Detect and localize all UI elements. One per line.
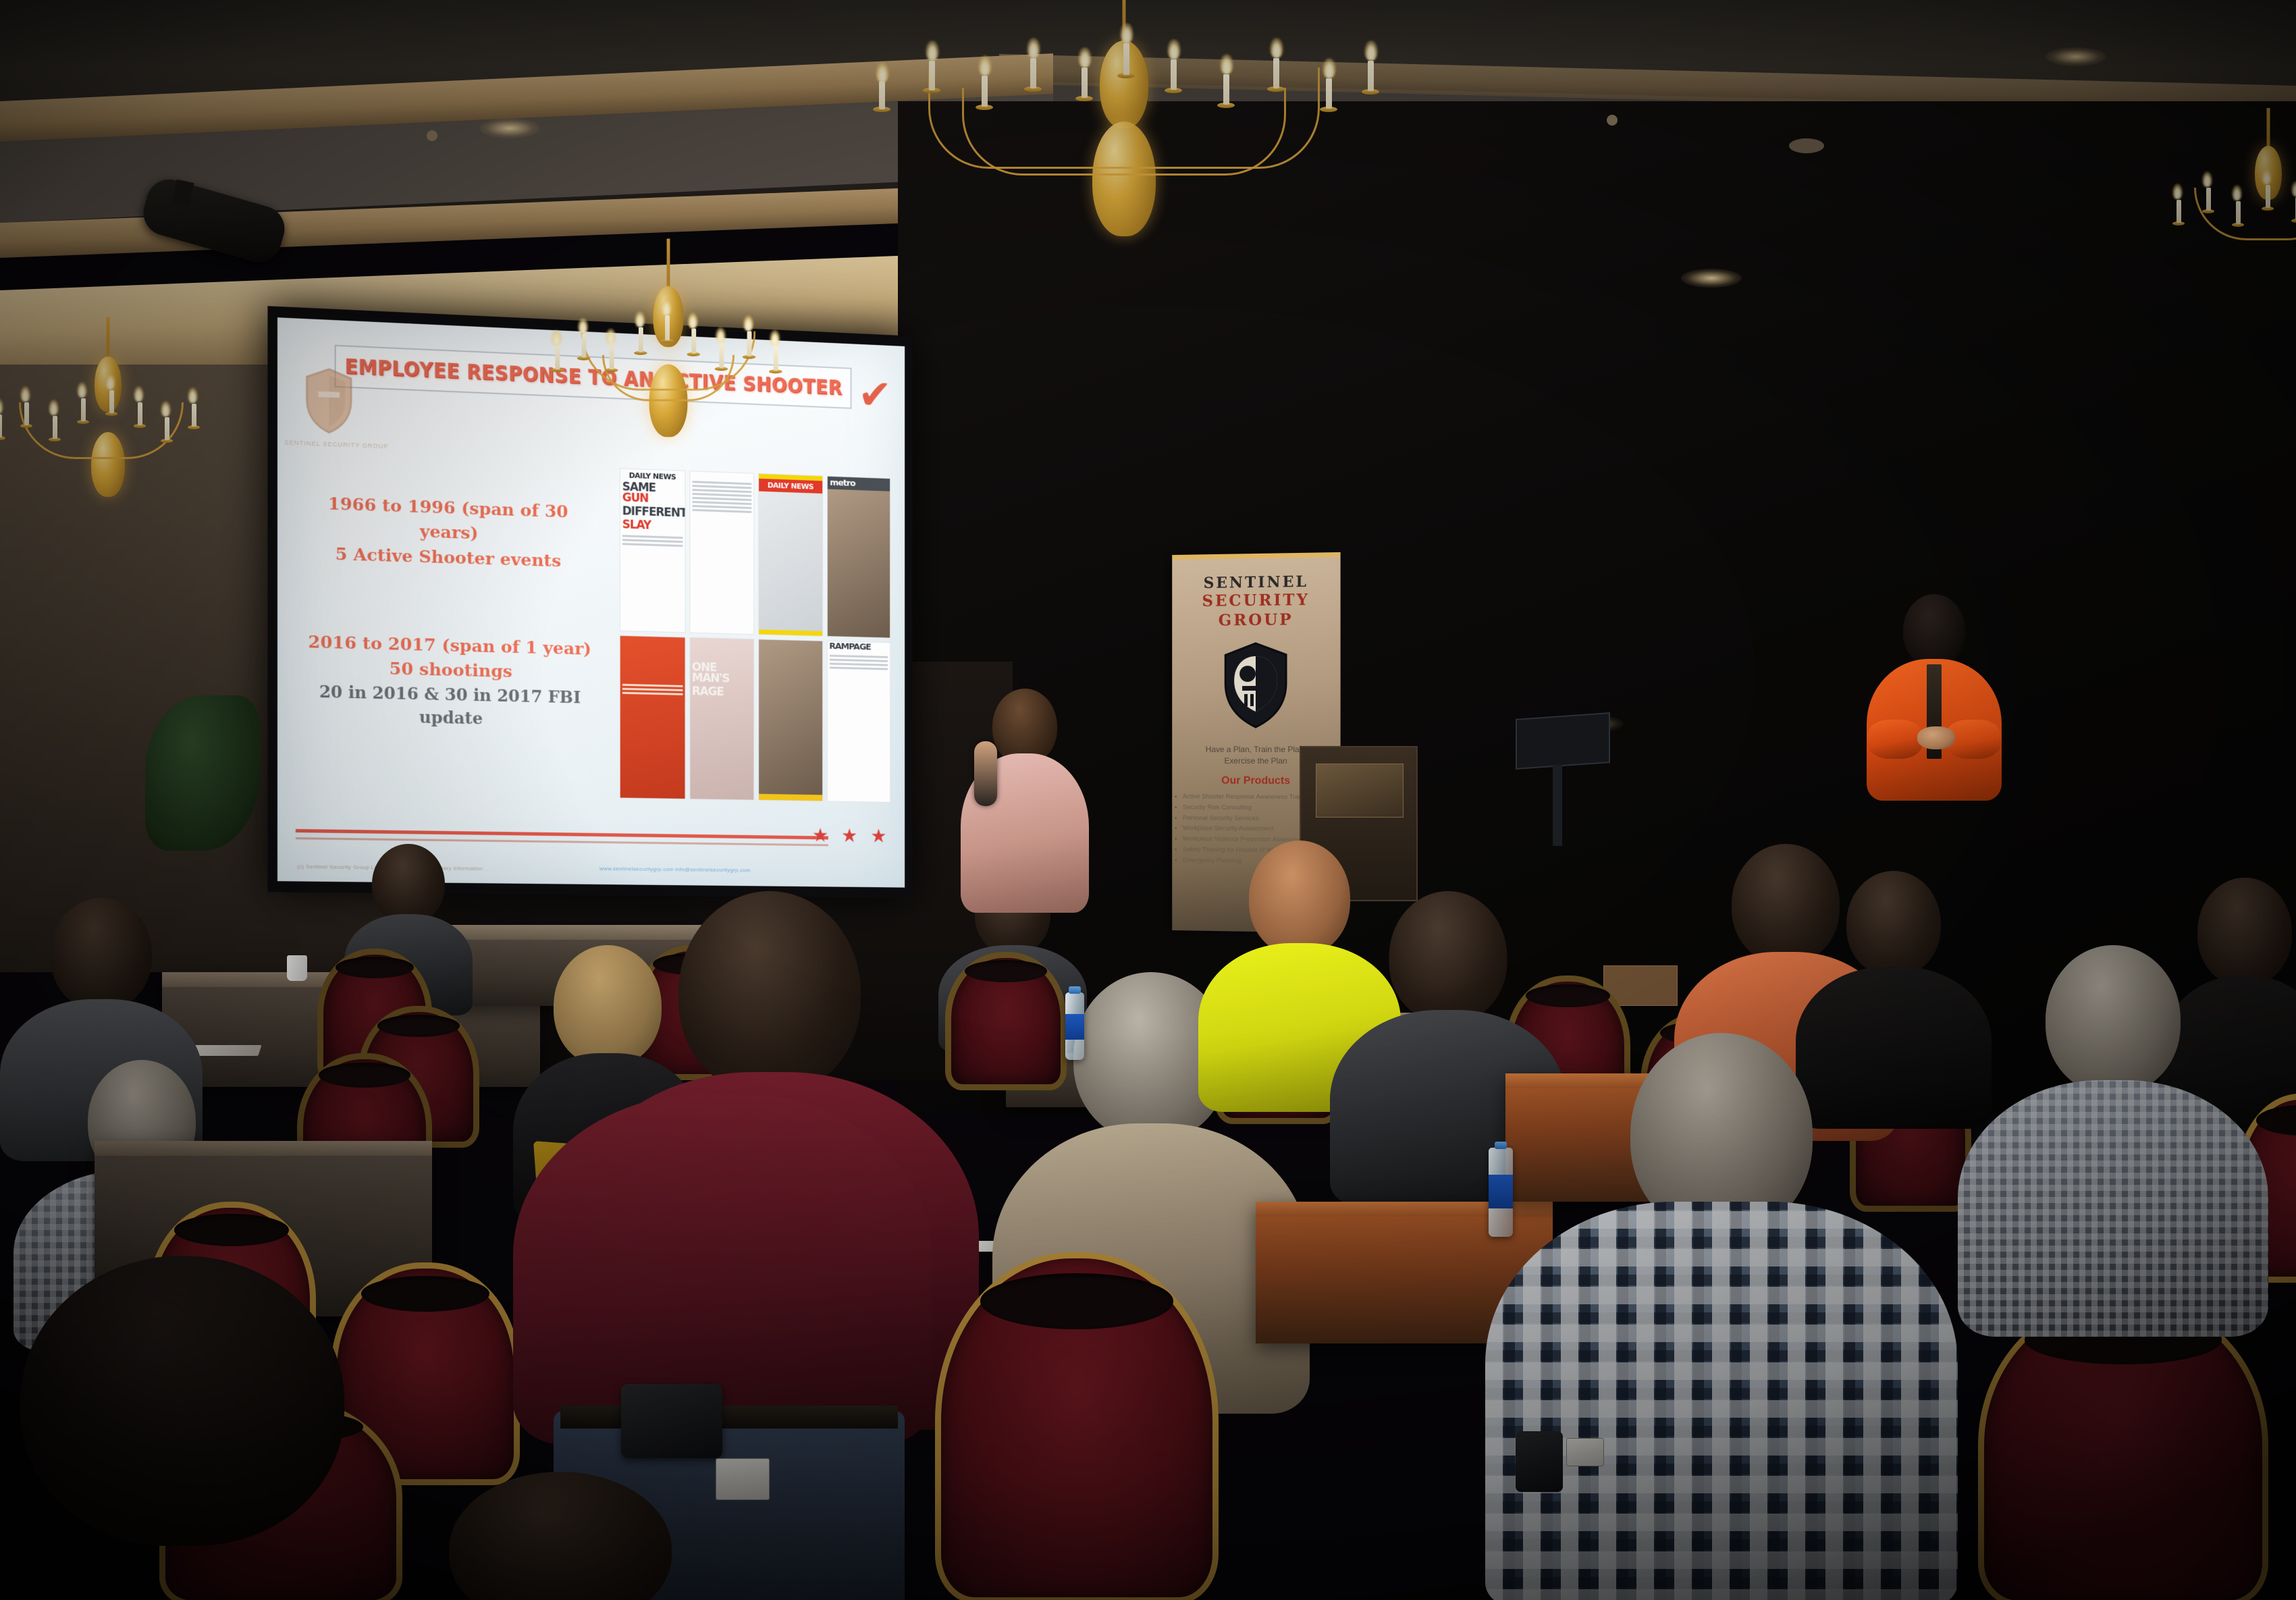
name-badge — [1566, 1438, 1604, 1466]
potted-plant — [145, 695, 260, 851]
banner-line-2: SECURITY — [1172, 590, 1340, 612]
newspaper-body-lines — [620, 532, 685, 552]
chandelier-left — [0, 317, 230, 520]
banner-line-3: GROUP — [1172, 610, 1340, 631]
recessed-downlight — [479, 118, 540, 138]
conference-room-photo: EMPLOYEE RESPONSE TO AN ACTIVE SHOOTER ✔… — [0, 0, 2296, 1600]
newspaper-clipping — [620, 635, 685, 799]
recessed-downlight — [2046, 47, 2106, 66]
newspaper-headline: SLAY — [620, 518, 685, 534]
newspaper-headline: ONE MAN'S — [690, 660, 753, 686]
newspaper-headline — [620, 668, 685, 683]
sprinkler-head — [427, 130, 437, 141]
banquet-chair-front — [935, 1252, 1219, 1600]
newspaper-photo — [827, 489, 890, 637]
slide-stars: ★ ★ ★ — [812, 824, 890, 847]
stat-1-line-1: 1966 to 1996 (span of 30 years) — [297, 490, 598, 550]
checkmark-icon: ✔ — [858, 373, 892, 416]
newspaper-body-lines — [827, 652, 890, 675]
standing-host — [1863, 594, 2005, 797]
slide-footer-links: www.sentinelsecuritygrp.com info@sentine… — [599, 865, 751, 873]
recessed-downlight — [1681, 269, 1742, 288]
stat-2-line-3: 20 in 2016 & 30 in 2017 FBI update — [289, 679, 610, 734]
coffee-cup — [287, 955, 307, 981]
newspaper-body-lines — [620, 681, 685, 700]
clasped-hands — [1917, 726, 1955, 749]
belt — [560, 1406, 898, 1429]
table-top — [95, 1141, 432, 1156]
newspaper-clipping: metro — [826, 476, 890, 639]
chandelier-over-screen — [536, 238, 801, 456]
phone-holster — [1516, 1431, 1563, 1492]
newspaper-clipping: DAILY NEWS — [758, 473, 823, 637]
sentinel-shield-icon — [304, 367, 354, 435]
bottle-cap — [1069, 986, 1081, 994]
chandelier-center-large — [847, 0, 1401, 250]
attendee-plaid-flannel — [1485, 1033, 1958, 1600]
banquet-chair-front — [1978, 1296, 2268, 1600]
podium-plaque — [1316, 764, 1404, 818]
newspaper-headline: RAGE — [690, 685, 753, 699]
newspaper-clipping: ONE MAN'S RAGE — [689, 637, 754, 801]
knight-helmet-shield-icon — [1222, 641, 1289, 728]
stat-block-1: 1966 to 1996 (span of 30 years) 5 Active… — [297, 490, 598, 574]
chandelier-right — [2167, 108, 2296, 311]
newspaper-clipping: RAMPAGE — [826, 641, 890, 803]
newspaper-photo — [759, 639, 822, 795]
water-bottle — [1065, 992, 1084, 1060]
monitor-stand — [1553, 765, 1562, 846]
name-badge — [716, 1458, 770, 1500]
newspaper-accent-bar — [759, 629, 822, 635]
microphone-icon — [974, 741, 997, 806]
slide-logo-caption: SENTINEL SECURITY GROUP — [284, 439, 395, 450]
attendee-checked-shirt-right — [1958, 945, 2268, 1323]
sprinkler-head — [1607, 115, 1618, 126]
smoke-detector — [1789, 138, 1824, 153]
stat-block-2: 2016 to 2017 (span of 1 year) 50 shootin… — [289, 629, 610, 733]
attendee-bottom-center — [405, 1472, 716, 1600]
attendee-foreground-dark — [0, 1256, 392, 1600]
banner-line-1: SENTINEL — [1172, 572, 1340, 592]
newspaper-clipping — [758, 639, 823, 801]
newspaper-headline: SAME GUN — [620, 480, 685, 507]
phone-case — [621, 1384, 722, 1458]
bottle-label — [1065, 1014, 1084, 1040]
newspaper-body-lines — [690, 471, 753, 518]
newspaper-collage: DAILY NEWS SAME GUN DIFFERENT SLAY DAILY… — [620, 468, 890, 803]
arm — [1867, 720, 1923, 759]
confidence-monitor — [1516, 712, 1610, 770]
newspaper-clipping: DAILY NEWS SAME GUN DIFFERENT SLAY — [620, 468, 685, 633]
newspaper-clipping — [689, 471, 754, 635]
